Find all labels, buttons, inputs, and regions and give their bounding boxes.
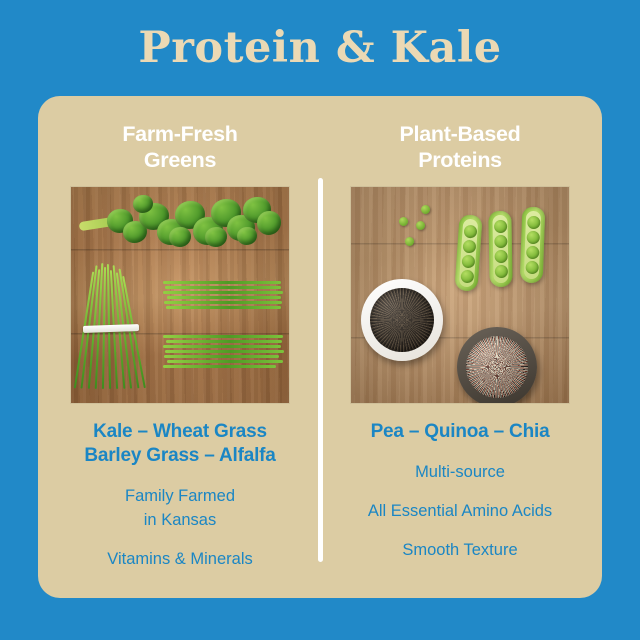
caption-left-line-2: in Kansas xyxy=(50,509,310,531)
content-card: Farm-Fresh Greens xyxy=(38,96,602,598)
column-heading-left-line2: Greens xyxy=(50,148,310,174)
column-heading-right-line2: Proteins xyxy=(330,148,590,174)
caption-right-line-3: Smooth Texture xyxy=(330,539,590,561)
loose-pea xyxy=(399,217,408,226)
wheat-grass-bundle xyxy=(163,279,285,313)
caption-right-line-1: Multi-source xyxy=(330,461,590,483)
bundle-band xyxy=(83,324,139,333)
column-heading-right: Plant-Based Proteins xyxy=(330,96,590,174)
page-title: Protein & Kale xyxy=(0,0,640,96)
caption-right-bold: Pea – Quinoa – Chia xyxy=(330,420,590,444)
bowl-of-chia-seeds xyxy=(361,279,443,361)
photo-plant-based-proteins xyxy=(350,186,570,404)
loose-pea xyxy=(421,205,430,214)
column-heading-right-line1: Plant-Based xyxy=(330,122,590,148)
kale-leaf-illustration xyxy=(77,193,285,255)
caption-right-bold-line1: Pea – Quinoa – Chia xyxy=(330,420,590,444)
caption-left-bold-line1: Kale – Wheat Grass xyxy=(50,420,310,444)
caption-left: Kale – Wheat Grass Barley Grass – Alfalf… xyxy=(50,404,310,571)
column-plant-based-proteins: Plant-Based Proteins xyxy=(330,96,590,561)
loose-pea xyxy=(416,221,425,230)
column-heading-left-line1: Farm-Fresh xyxy=(50,122,310,148)
grass-bundle xyxy=(79,263,141,389)
caption-right-line-2: All Essential Amino Acids xyxy=(330,500,590,522)
caption-right: Pea – Quinoa – Chia Multi-source All Ess… xyxy=(330,404,590,562)
pea-pod xyxy=(520,206,546,283)
column-divider xyxy=(318,178,323,562)
caption-left-bold-line2: Barley Grass – Alfalfa xyxy=(50,444,310,468)
caption-left-line-3: Vitamins & Minerals xyxy=(50,548,310,570)
caption-left-line-1: Family Farmed xyxy=(50,485,310,507)
bowl-of-quinoa xyxy=(457,327,537,404)
column-heading-left: Farm-Fresh Greens xyxy=(50,96,310,174)
barley-grass-bundle xyxy=(163,333,285,371)
pea-pod xyxy=(488,210,512,286)
loose-pea xyxy=(405,237,414,246)
photo-farm-fresh-greens xyxy=(70,186,290,404)
quinoa-seeds xyxy=(466,336,528,398)
chia-seeds xyxy=(370,288,434,352)
column-farm-fresh-greens: Farm-Fresh Greens xyxy=(50,96,310,571)
caption-left-bold: Kale – Wheat Grass Barley Grass – Alfalf… xyxy=(50,420,310,469)
